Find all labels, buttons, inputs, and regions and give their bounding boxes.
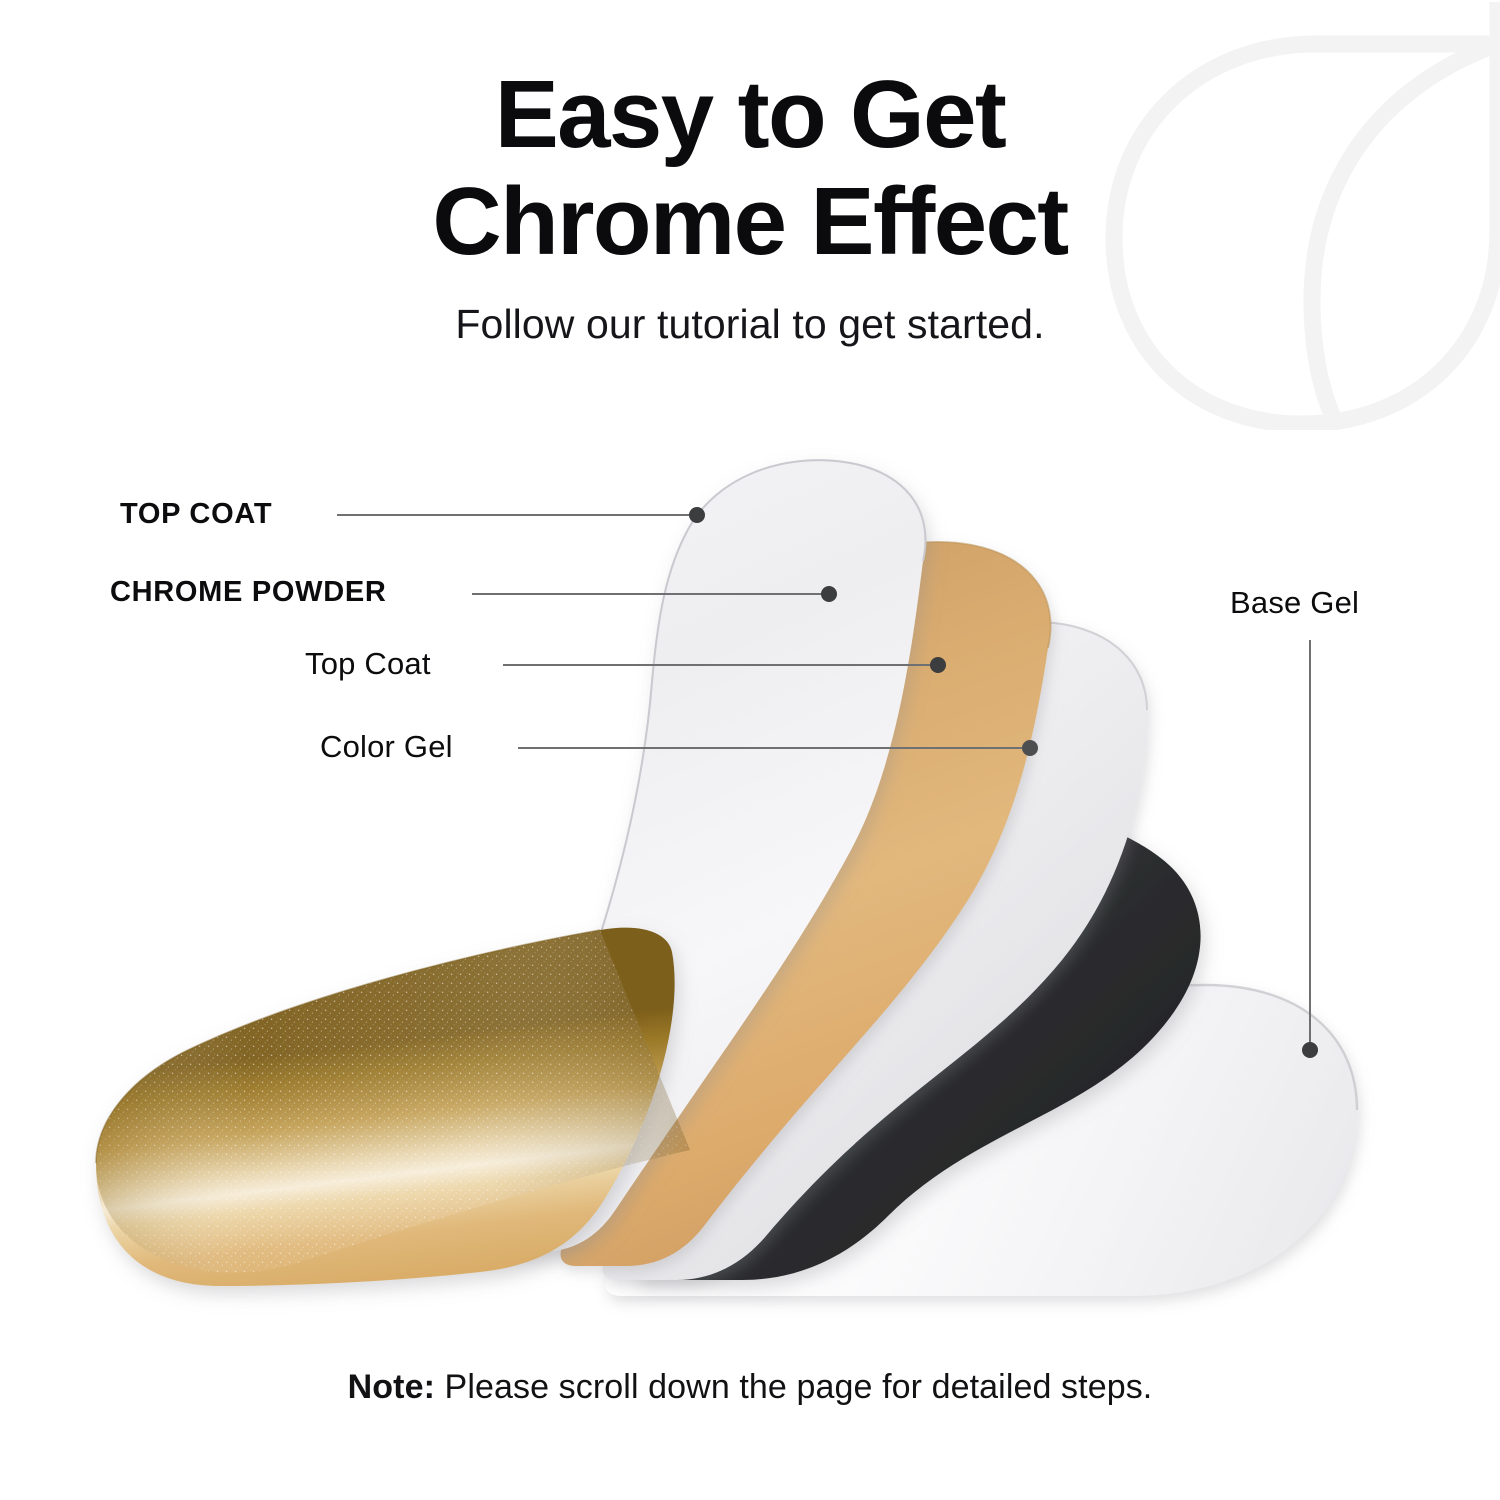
- callout-label-top-coat-upper: TOP COAT: [120, 498, 272, 531]
- leader-color-gel: [518, 740, 1038, 756]
- layer-top-coat-lower: [603, 622, 1147, 1280]
- callout-label-top-coat-lower: Top Coat: [305, 646, 431, 682]
- layer-chrome-gold-nail: [90, 920, 710, 1300]
- layer-chrome-powder: [561, 542, 1051, 1266]
- callout-label-color-gel: Color Gel: [320, 729, 453, 765]
- product-infographic: Easy to Get Chrome Effect Follow our tut…: [0, 0, 1500, 1500]
- footer-note: Note: Please scroll down the page for de…: [0, 1368, 1500, 1407]
- heading-block: Easy to Get Chrome Effect Follow our tut…: [0, 62, 1500, 348]
- footer-note-text: Please scroll down the page for detailed…: [435, 1368, 1152, 1406]
- layer-top-coat-upper: [469, 460, 926, 1252]
- leader-chrome-powder: [472, 586, 837, 602]
- leader-base-gel: [1302, 640, 1318, 1058]
- page-subtitle: Follow our tutorial to get started.: [0, 301, 1500, 348]
- layer-base-gel: [605, 985, 1357, 1296]
- footer-note-label: Note:: [348, 1368, 435, 1406]
- leader-top-coat-upper: [337, 507, 705, 523]
- layer-color-gel: [633, 813, 1201, 1280]
- page-title: Easy to Get Chrome Effect: [0, 62, 1500, 275]
- leader-top-coat-lower: [503, 657, 946, 673]
- callout-label-chrome-powder: CHROME POWDER: [110, 576, 387, 609]
- callout-label-base-gel: Base Gel: [1230, 585, 1359, 621]
